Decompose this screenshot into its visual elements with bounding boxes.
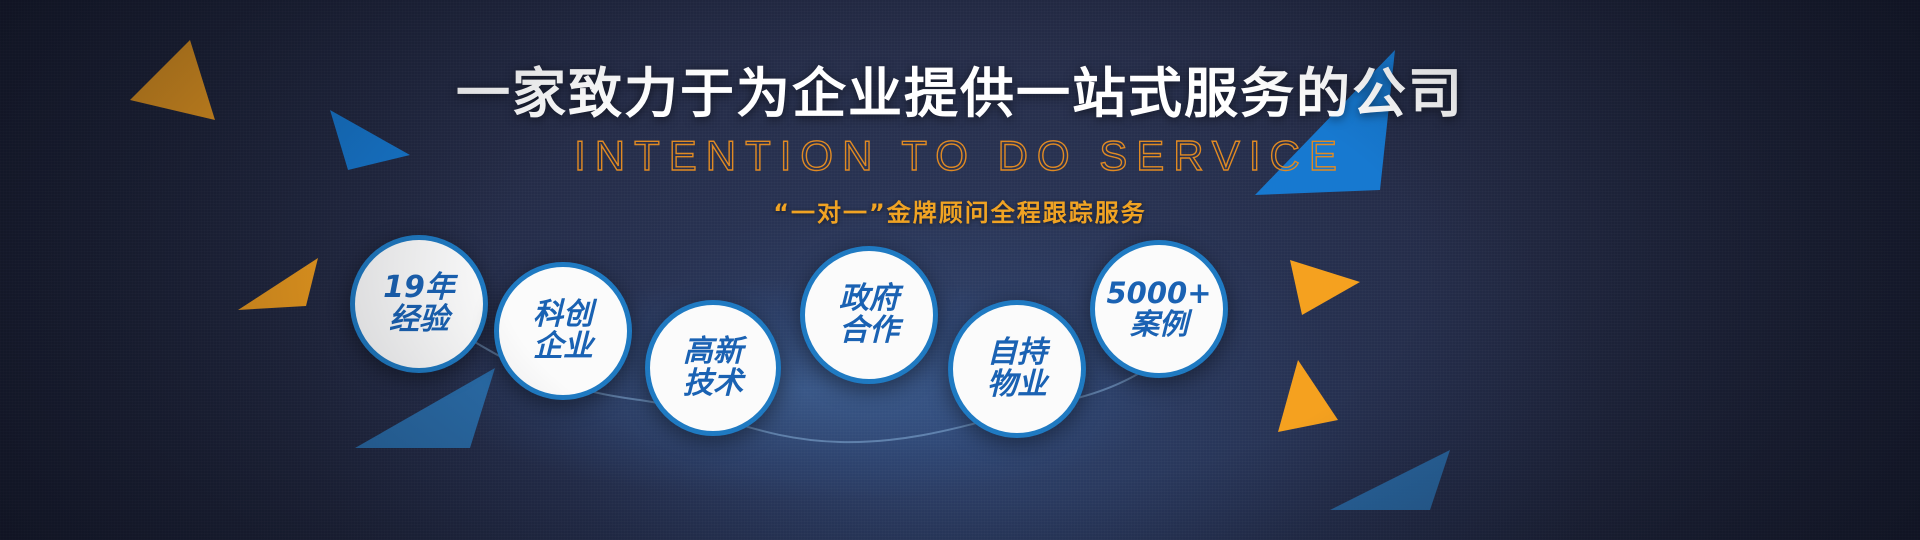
badge-high-tech[interactable]: 高新技术	[645, 300, 781, 436]
triangle-blue-bottom-left-icon	[355, 368, 495, 448]
triangle-orange-mid-left-icon	[238, 258, 318, 310]
badge-label-line: 高新	[683, 336, 743, 368]
badge-label-line: 合作	[839, 315, 899, 347]
badge-label-line: 案例	[1130, 309, 1188, 340]
page-subtitle: “一对一”金牌顾问全程跟踪服务	[0, 193, 1920, 228]
badge-label-line: 5000+	[1106, 278, 1211, 309]
badge-label-line: 物业	[987, 369, 1047, 401]
badge-own-property[interactable]: 自持物业	[948, 300, 1086, 438]
badge-label-line: 科创	[533, 299, 593, 331]
badge-label-line: 政府	[839, 283, 899, 315]
page-title: 一家致力于为企业提供一站式服务的公司	[0, 66, 1920, 123]
badge-label-line: 技术	[683, 368, 743, 400]
badge-label-line: 19年	[383, 272, 455, 304]
triangle-orange-bottom-right-icon	[1278, 360, 1338, 432]
badge-5000-cases[interactable]: 5000+案例	[1090, 240, 1228, 378]
badge-tech-startup[interactable]: 科创企业	[494, 262, 632, 400]
triangle-blue-bottom-right-icon	[1330, 440, 1450, 510]
page-title-english: INTENTION TO DO SERVICE	[0, 133, 1920, 179]
badge-label-line: 经验	[389, 304, 449, 336]
promo-banner: 一家致力于为企业提供一站式服务的公司 INTENTION TO DO SERVI…	[0, 0, 1920, 540]
badge-gov-coop[interactable]: 政府合作	[800, 246, 938, 384]
triangle-orange-right-icon	[1290, 260, 1360, 315]
badge-19-years[interactable]: 19年经验	[350, 235, 488, 373]
badge-label-line: 自持	[987, 337, 1047, 369]
headline-block: 一家致力于为企业提供一站式服务的公司 INTENTION TO DO SERVI…	[0, 66, 1920, 228]
badge-label-line: 企业	[533, 331, 593, 363]
